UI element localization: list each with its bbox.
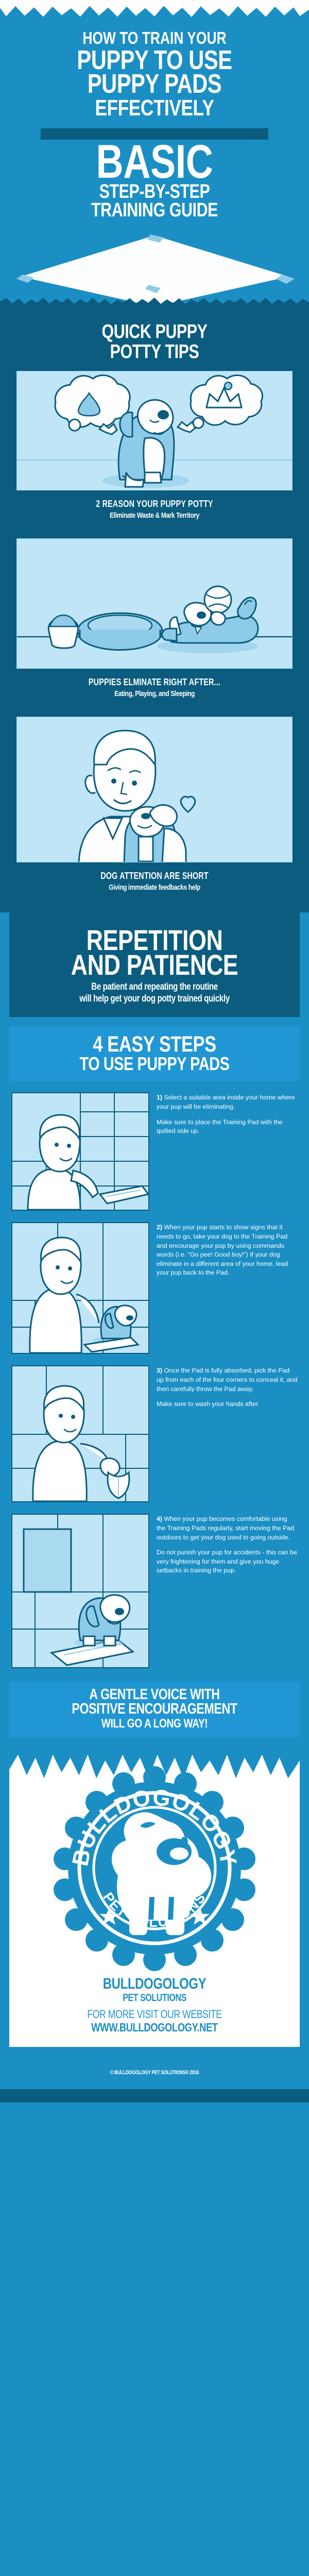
header-subtitle-1: STEP-BY-STEP xyxy=(41,182,268,201)
gentle-voice-banner: A GENTLE VOICE WITH POSITIVE ENCOURAGEME… xyxy=(9,1682,300,1737)
copyright-text: © BULLDOGOLOGY PET SOLUTIONS® 2016 xyxy=(31,2047,278,2089)
header-line-3: PUPPY PADS xyxy=(41,72,268,96)
tip-illustration-1 xyxy=(16,371,293,490)
header-section: HOW TO TRAIN YOUR PUPPY TO USE PUPPY PAD… xyxy=(0,0,309,307)
repetition-sub-line-1: Be patient and repeating the routine xyxy=(46,981,262,993)
brand-subtitle: PET SOLUTIONS xyxy=(42,1993,266,2003)
step-text-1: 1) Select a suitable area inside your ho… xyxy=(157,1092,298,1142)
step-text-2: 2) When your pup starts to show signs th… xyxy=(157,1222,298,1284)
gentle-line-3: WILL GO A LONG WAY! xyxy=(42,1718,267,1730)
step-illustration-1 xyxy=(11,1092,149,1211)
header-subtitle-2: TRAINING GUIDE xyxy=(41,201,268,219)
step-row-2: 2) When your pup starts to show signs th… xyxy=(0,1211,309,1354)
visit-website-text: FOR MORE VISIT OUR WEBSITE xyxy=(42,2008,266,2020)
step-row-4: 4) When your pup becomes comfortable usi… xyxy=(0,1502,309,1668)
tip-block-2: PUPPIES ELMINATE RIGHT AFTER... Eating, … xyxy=(0,538,309,698)
steps-banner-line-1: 4 EASY STEPS xyxy=(42,1035,266,1055)
footer-bar xyxy=(0,2089,309,2103)
step-para-3a: Once the Pad is fully absorbed, pick the… xyxy=(157,1367,297,1392)
step-number-4: 4) xyxy=(157,1515,162,1522)
repetition-title-line-2: AND PATIENCE xyxy=(46,953,262,977)
step-illustration-3 xyxy=(11,1365,149,1502)
step-row-3: 3) Once the Pad is fully absorbed, pick … xyxy=(0,1354,309,1502)
training-pad-illustration xyxy=(12,229,297,307)
step-para-4b: Do not punish your pup for accidents - t… xyxy=(157,1549,297,1574)
steps-banner: 4 EASY STEPS TO USE PUPPY PADS xyxy=(9,1026,300,1081)
brand-name: BULLDOGOLOGY xyxy=(42,1976,266,1992)
steps-banner-line-2: TO USE PUPPY PADS xyxy=(42,1055,266,1073)
step-number-2: 2) xyxy=(157,1224,162,1231)
repetition-sub-line-2: will help get your dog potty trained qui… xyxy=(46,993,262,1005)
gentle-line-2: POSITIVE ENCOURAGEMENT xyxy=(42,1702,267,1717)
step-para-4a: When your pup becomes comfortable using … xyxy=(157,1515,294,1540)
step-para-1b: Make sure to place the Training Pad with… xyxy=(157,1118,283,1135)
tip-subheading-3: Giving immediate feedbacks help xyxy=(31,883,278,892)
infographic-page: HOW TO TRAIN YOUR PUPPY TO USE PUPPY PAD… xyxy=(0,0,309,2103)
tip-illustration-2 xyxy=(16,538,293,669)
step-text-3: 3) Once the Pad is fully absorbed, pick … xyxy=(157,1365,298,1415)
repetition-section: REPETITION AND PATIENCE Be patient and r… xyxy=(9,912,300,1017)
step-row-1: 1) Select a suitable area inside your ho… xyxy=(0,1081,309,1211)
header-line-1: HOW TO TRAIN YOUR xyxy=(41,30,268,46)
step-number-3: 3) xyxy=(157,1367,162,1374)
quick-tips-section: QUICK PUPPY POTTY TIPS xyxy=(0,306,309,912)
tip-subheading-2: Eating, Playing, and Sleeping xyxy=(31,689,278,698)
tip-illustration-3 xyxy=(16,717,293,862)
step-text-4: 4) When your pup becomes comfortable usi… xyxy=(157,1514,298,1582)
website-url[interactable]: WWW.BULLDOGOLOGY.NET xyxy=(42,2021,266,2033)
logo-badge: BULLDOGOLOGY PET SOLUTIONS xyxy=(14,1765,295,1971)
tip-block-1: 2 REASON YOUR PUPPY POTTY Eliminate Wast… xyxy=(0,371,309,520)
tip-block-3: DOG ATTENTION ARE SHORT Giving immediate… xyxy=(0,717,309,892)
tip-subheading-1: Eliminate Waste & Mark Territory xyxy=(31,511,278,520)
header-line-4: EFFECTIVELY xyxy=(41,97,268,118)
tip-heading-1: 2 REASON YOUR PUPPY POTTY xyxy=(31,499,278,510)
step-number-1: 1) xyxy=(157,1094,162,1101)
tips-title-line-2: POTTY TIPS xyxy=(31,343,278,362)
logo-card: BULLDOGOLOGY PET SOLUTIONS xyxy=(9,1752,300,2047)
step-para-2a: When your pup starts to show signs that … xyxy=(157,1224,288,1276)
bulldogology-seal-icon: BULLDOGOLOGY PET SOLUTIONS xyxy=(51,1765,257,1971)
step-illustration-2 xyxy=(11,1222,149,1354)
step-para-3b: Make sure to wash your hands after. xyxy=(157,1400,260,1408)
gentle-line-1: A GENTLE VOICE WITH xyxy=(42,1688,267,1702)
tip-heading-3: DOG ATTENTION ARE SHORT xyxy=(31,871,278,882)
tips-title-line-1: QUICK PUPPY xyxy=(31,323,278,342)
steps-section: 4 EASY STEPS TO USE PUPPY PADS xyxy=(0,1017,309,1668)
tip-heading-2: PUPPIES ELMINATE RIGHT AFTER... xyxy=(31,677,278,688)
step-para-1a: Select a suitable area inside your home … xyxy=(157,1094,295,1110)
header-basic-title: BASIC xyxy=(41,142,268,182)
header-line-2: PUPPY TO USE xyxy=(41,48,268,73)
step-illustration-4 xyxy=(11,1514,149,1668)
